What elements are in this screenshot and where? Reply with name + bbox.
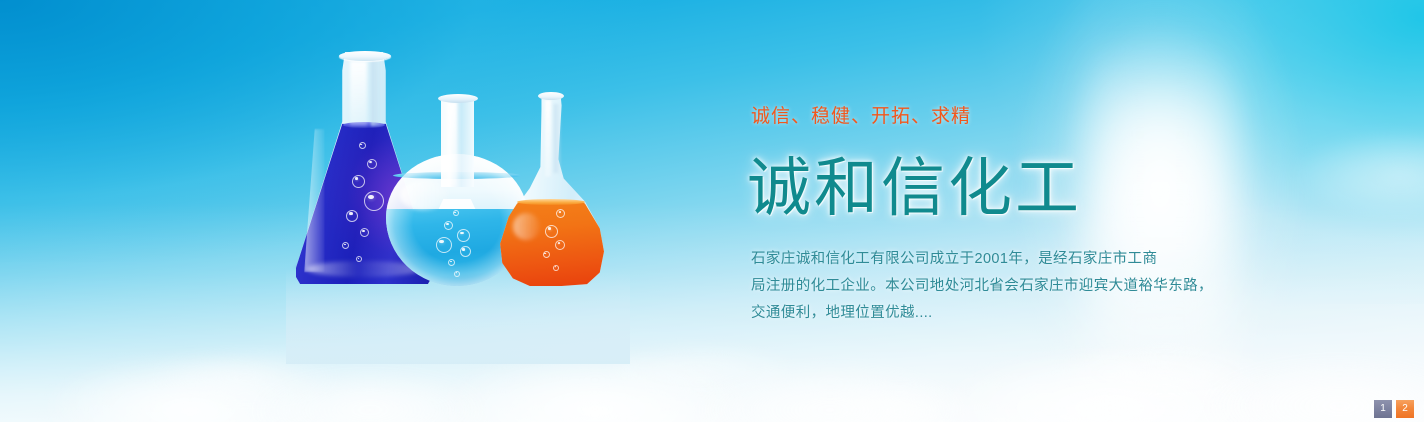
description-line: 石家庄诚和信化工有限公司成立于2001年，是经石家庄市工商 (751, 246, 1271, 273)
banner-description: 石家庄诚和信化工有限公司成立于2001年，是经石家庄市工商 局注册的化工企业。本… (751, 246, 1271, 327)
pear-shaped-flask-icon (498, 94, 604, 286)
pagination-button-2[interactable]: 2 (1396, 400, 1414, 418)
description-line: 交通便利，地理位置优越.... (751, 300, 1271, 327)
carousel-pagination: 1 2 (1374, 400, 1414, 418)
chemistry-flasks-illustration (286, 52, 630, 362)
banner-copy: 诚信、稳健、开拓、求精 诚和信化工 石家庄诚和信化工有限公司成立于2001年，是… (751, 104, 1271, 327)
hero-banner: 诚信、稳健、开拓、求精 诚和信化工 石家庄诚和信化工有限公司成立于2001年，是… (0, 0, 1424, 422)
banner-tagline: 诚信、稳健、开拓、求精 (751, 104, 1271, 130)
pagination-button-1[interactable]: 1 (1374, 400, 1392, 418)
banner-headline: 诚和信化工 (747, 152, 1271, 224)
description-line: 局注册的化工企业。本公司地处河北省会石家庄市迎宾大道裕华东路， (751, 273, 1271, 300)
